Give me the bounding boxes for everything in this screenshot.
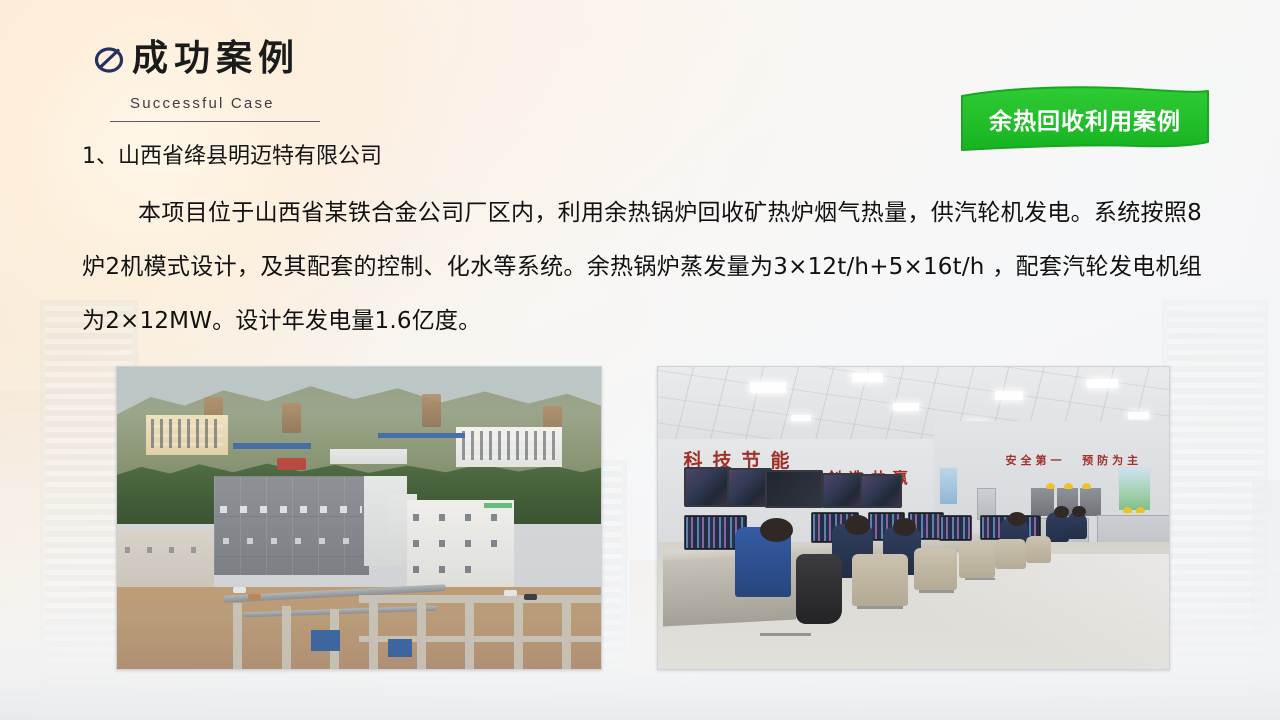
slide-header: 成功案例 Successful Case <box>92 32 512 122</box>
slide-body: 1、山西省绛县明迈特有限公司 本项目位于山西省某铁合金公司厂区内，利用余热锅炉回… <box>82 142 1202 348</box>
circle-slash-icon <box>92 42 126 76</box>
plant-exterior-photo <box>116 366 602 670</box>
slide-canvas: 成功案例 Successful Case 余热回收利用案例 1、山西省绛县明迈特… <box>0 0 1280 720</box>
page-subtitle: Successful Case <box>130 95 512 112</box>
case-heading: 1、山西省绛县明迈特有限公司 <box>82 142 1202 172</box>
case-paragraph: 本项目位于山西省某铁合金公司厂区内，利用余热锅炉回收矿热炉烟气热量，供汽轮机发电… <box>82 186 1202 348</box>
title-divider <box>110 121 320 122</box>
control-room-photo: 科技节能 创造共赢 安全第一 预防为主 <box>657 366 1170 670</box>
title-row: 成功案例 <box>92 32 512 86</box>
page-title: 成功案例 <box>132 41 300 77</box>
control-room-scene: 科技节能 创造共赢 安全第一 预防为主 <box>658 367 1169 669</box>
plant-exterior-scene <box>117 367 601 669</box>
